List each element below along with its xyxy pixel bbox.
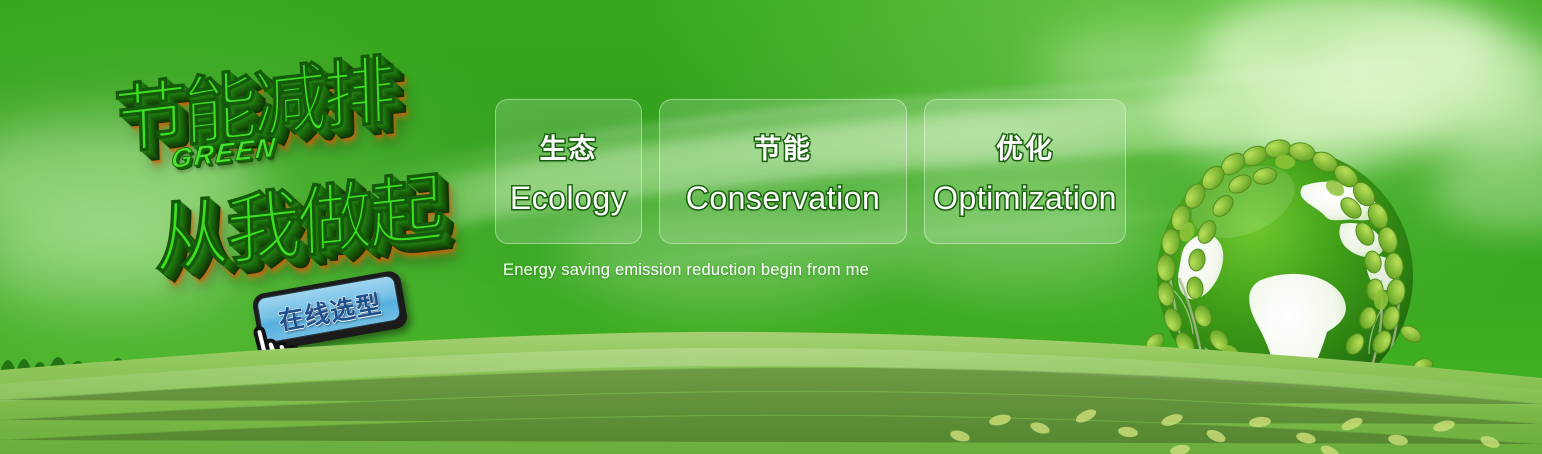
- cloud-shape: [1430, 150, 1542, 230]
- banner-tagline: Energy saving emission reduction begin f…: [503, 261, 869, 280]
- ivy-earth-globe-icon: [1135, 128, 1435, 428]
- feature-card-cn-label: 生态: [540, 127, 598, 166]
- headline-3d-text: 节能减排 GREEN 从我做起: [103, 42, 478, 272]
- feature-card-en-label: Ecology: [510, 180, 627, 217]
- feature-card-cn-label: 节能: [754, 127, 812, 166]
- feature-cards: 生态 Ecology 节能 Conservation 优化 Optimizati…: [495, 99, 1126, 244]
- feature-card-ecology[interactable]: 生态 Ecology: [495, 99, 642, 244]
- feature-card-cn-label: 优化: [996, 127, 1054, 166]
- feature-card-optimization[interactable]: 优化 Optimization: [924, 99, 1126, 244]
- feature-card-en-label: Conservation: [686, 180, 881, 217]
- cloud-shape: [1040, 30, 1230, 100]
- hand-pointer-cursor-icon: [241, 321, 315, 401]
- green-energy-banner: 节能减排 GREEN 从我做起 在线选型 生态 Ecology 节能 Conse…: [0, 0, 1542, 454]
- feature-card-conservation[interactable]: 节能 Conservation: [659, 99, 907, 244]
- cloud-shape: [1200, 0, 1500, 110]
- feature-card-en-label: Optimization: [933, 180, 1117, 217]
- cloud-shape: [1320, 20, 1542, 115]
